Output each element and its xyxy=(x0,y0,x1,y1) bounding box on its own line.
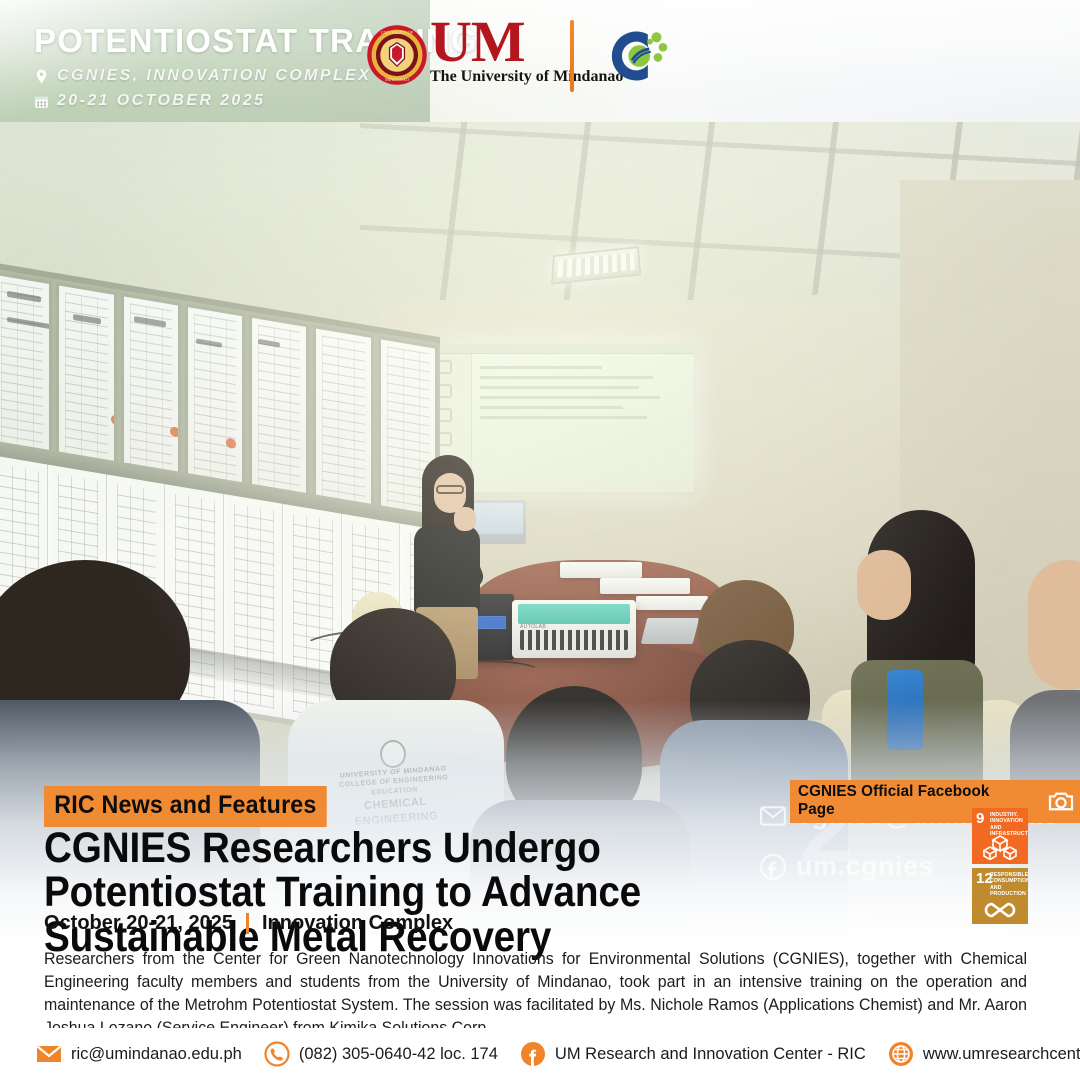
cubes-icon xyxy=(972,834,1028,860)
potentiostat-instrument: AUTOLAB xyxy=(512,600,636,658)
um-tagline: The University of Mindanao xyxy=(430,68,623,86)
drawing-pane xyxy=(121,293,181,484)
article-venue: Innovation Complex xyxy=(262,912,453,935)
globe-icon xyxy=(888,1041,914,1067)
drawing-pane xyxy=(185,304,245,495)
sdg-title: RESPONSIBLE CONSUMPTION AND PRODUCTION xyxy=(990,872,1026,897)
cgnies-c-logo-icon xyxy=(596,20,668,92)
footer-website-text: www.umresearchcenter.com xyxy=(923,1045,1080,1064)
footer-phone-text: (082) 305-0640-42 loc. 174 xyxy=(299,1045,498,1064)
event-date-row: 20-21 OCTOBER 2025 xyxy=(34,92,478,110)
audience-head-right-edge xyxy=(1028,560,1080,690)
equipment-box xyxy=(560,562,642,578)
footer-item-website[interactable]: www.umresearchcenter.com xyxy=(888,1041,1080,1067)
drawing-pane xyxy=(56,282,116,473)
footer-item-email[interactable]: ric@umindanao.edu.ph xyxy=(36,1041,242,1067)
sdg-badge-group: 9 INDUSTRY, INNOVATION AND INFRASTRUCTUR… xyxy=(972,808,1028,924)
contact-footer: ric@umindanao.edu.ph (082) 305-0640-42 l… xyxy=(0,1028,1080,1080)
footer-email-text: ric@umindanao.edu.ph xyxy=(71,1045,242,1064)
poster-header: POTENTIOSTAT TRAINING CGNIES, INNOVATION… xyxy=(0,0,1080,122)
footer-facebook-text: UM Research and Innovation Center - RIC xyxy=(555,1045,866,1064)
um-logo-lockup: UNIVERSITY OF MINDANAO UM The University… xyxy=(366,16,623,86)
subline-divider xyxy=(246,913,249,934)
footer-item-phone[interactable]: (082) 305-0640-42 loc. 174 xyxy=(264,1041,498,1067)
sdg-badge-9: 9 INDUSTRY, INNOVATION AND INFRASTRUCTUR… xyxy=(972,808,1028,864)
equipment-box xyxy=(636,596,708,610)
phone-icon xyxy=(264,1041,290,1067)
article-body: Researchers from the Center for Green Na… xyxy=(44,948,1027,1040)
infinity-icon xyxy=(972,900,1028,920)
equipment-box xyxy=(600,578,690,594)
event-date-text: 20-21 OCTOBER 2025 xyxy=(57,92,265,110)
news-poster: AUTOLAB UNIVERSITY OF MINDANAO COLLEGE O… xyxy=(0,0,1080,1080)
um-wordmark: UM xyxy=(430,16,623,67)
envelope-icon xyxy=(36,1041,62,1067)
footer-item-facebook[interactable]: UM Research and Innovation Center - RIC xyxy=(520,1041,866,1067)
sdg-number: 9 xyxy=(976,811,984,826)
sdg-badge-12: 12 RESPONSIBLE CONSUMPTION AND PRODUCTIO… xyxy=(972,868,1028,924)
secondary-laptop xyxy=(641,618,699,644)
drawing-pane xyxy=(249,314,309,505)
svg-text:MINDANAO: MINDANAO xyxy=(385,77,409,82)
article-subline: October 20-21, 2025 Innovation Complex xyxy=(44,912,453,935)
category-badge[interactable]: RIC News and Features xyxy=(44,786,327,827)
facebook-page-badge[interactable]: CGNIES Official Facebook Page xyxy=(790,780,1080,823)
article-date: October 20-21, 2025 xyxy=(44,912,233,935)
university-seal-icon: UNIVERSITY OF MINDANAO xyxy=(366,24,428,86)
logo-divider xyxy=(570,20,574,92)
article-headline: CGNIES Researchers Undergo Potentiostat … xyxy=(44,826,782,959)
calendar-icon xyxy=(34,93,49,110)
svg-text:UNIVERSITY OF: UNIVERSITY OF xyxy=(381,30,414,35)
drawing-pane xyxy=(0,271,52,462)
camera-icon xyxy=(1048,790,1074,812)
drawing-pane xyxy=(313,325,373,516)
facebook-icon xyxy=(520,1041,546,1067)
map-pin-icon xyxy=(34,68,49,85)
event-location-text: CGNIES, INNOVATION COMPLEX xyxy=(57,67,371,85)
